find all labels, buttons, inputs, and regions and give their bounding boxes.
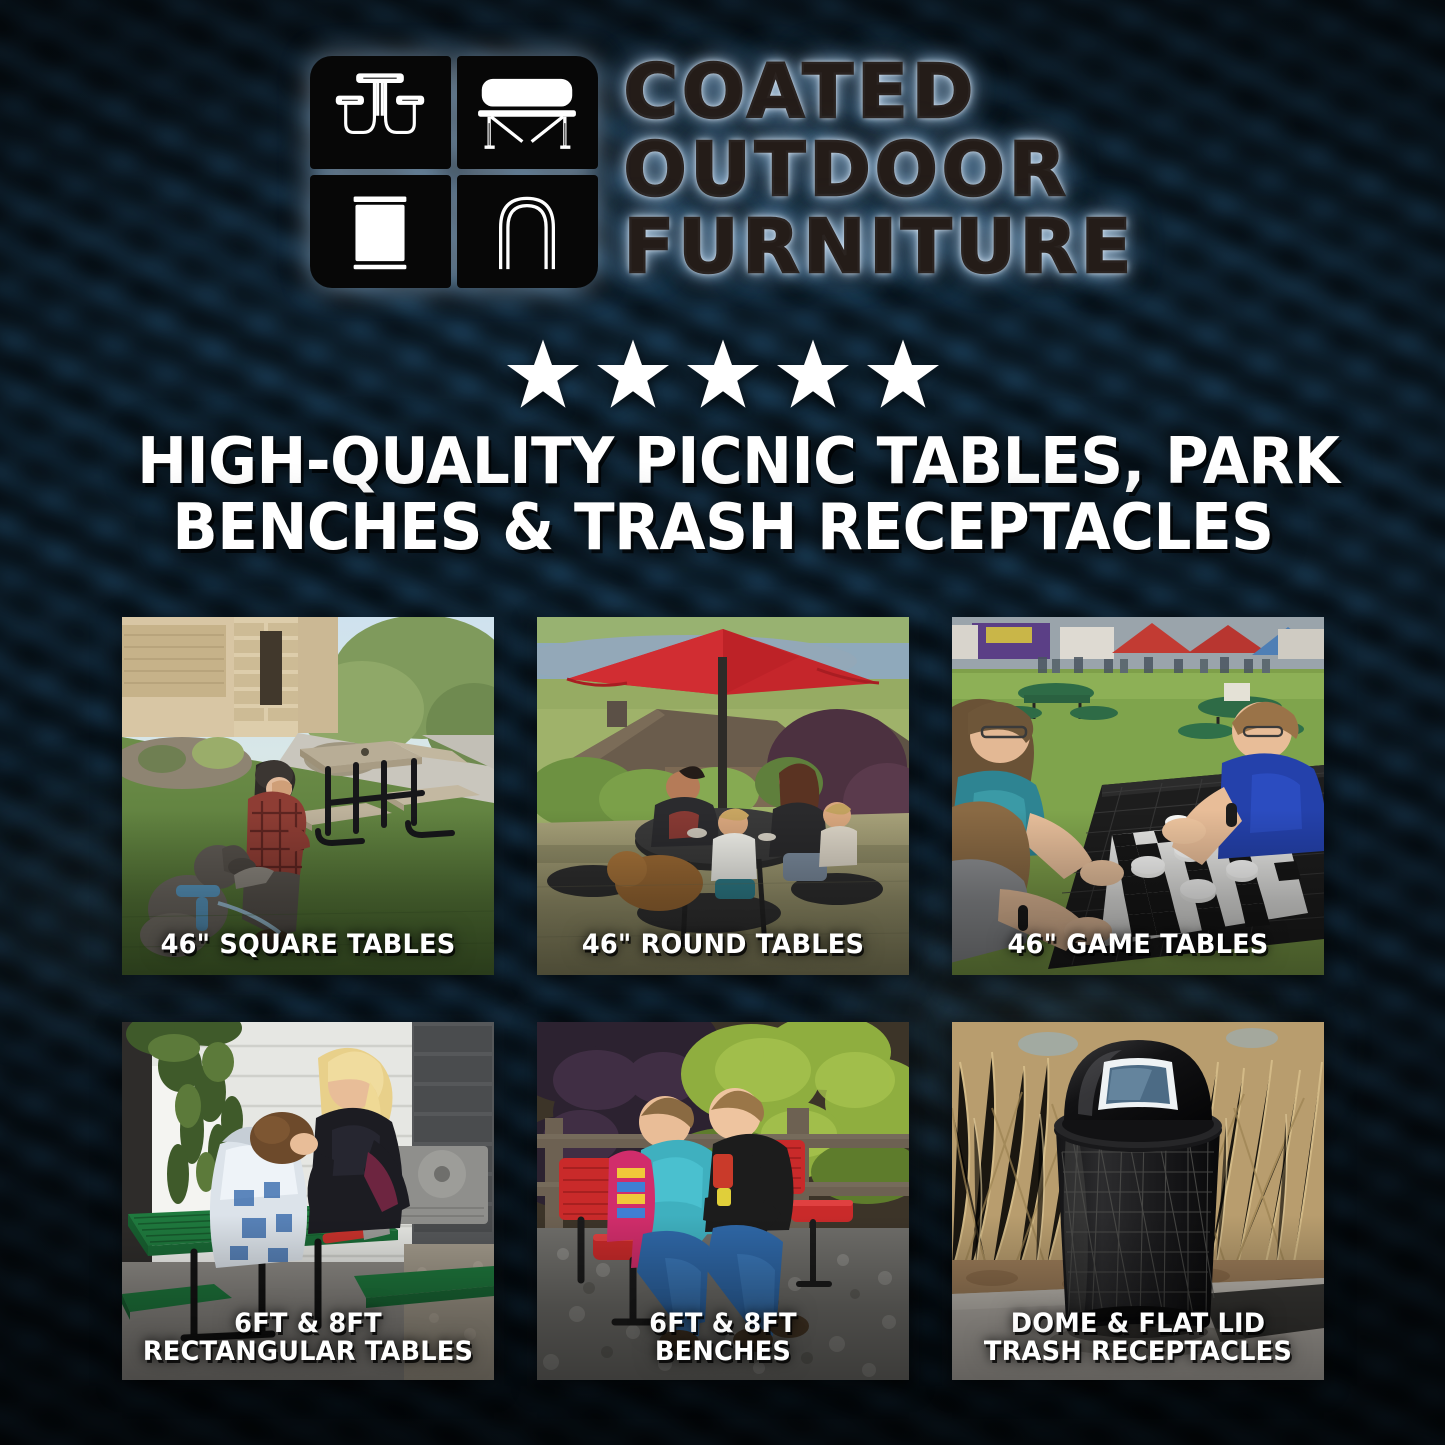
bench-side-icon [457, 56, 598, 169]
caption-line: 46" SQUARE TABLES [137, 931, 479, 959]
caption-line: 6FT & 8FT [552, 1310, 894, 1338]
brand-name-line-1: COATED [624, 58, 1136, 128]
brand-name-line-2: OUTDOOR [624, 136, 1136, 206]
star-icon [865, 338, 941, 410]
product-tile-square-tables[interactable]: 46" SQUARE TABLES [122, 617, 494, 975]
star-icon [685, 338, 761, 410]
brand-name-line-3: FURNITURE [624, 213, 1136, 283]
caption-line: 46" GAME TABLES [967, 931, 1309, 959]
caption-line: DOME & FLAT LID [967, 1310, 1309, 1338]
caption-line: 46" ROUND TABLES [552, 931, 894, 959]
product-caption-square-tables: 46" SQUARE TABLES [128, 931, 488, 959]
product-photo-round-tables [537, 617, 909, 975]
headline-line-2: BENCHES & TRASH RECEPTACLES [137, 496, 1309, 562]
page-title: HIGH-QUALITY PICNIC TABLES, PARK BENCHES… [93, 430, 1353, 562]
product-photo-square-tables [122, 617, 494, 975]
star-icon [775, 338, 851, 410]
product-tile-trash-receptacles[interactable]: DOME & FLAT LID TRASH RECEPTACLES [952, 1022, 1324, 1380]
product-tile-round-tables[interactable]: 46" ROUND TABLES [537, 617, 909, 975]
product-caption-benches: 6FT & 8FT BENCHES [543, 1310, 903, 1366]
product-tile-game-tables[interactable]: 46" GAME TABLES [952, 617, 1324, 975]
brand-wordmark: COATED OUTDOOR FURNITURE [624, 56, 1136, 283]
star-icon [505, 338, 581, 410]
product-caption-game-tables: 46" GAME TABLES [958, 931, 1318, 959]
product-tile-benches[interactable]: 6FT & 8FT BENCHES [537, 1022, 909, 1380]
star-rating [0, 338, 1445, 410]
caption-line: BENCHES [552, 1338, 894, 1366]
headline-line-1: HIGH-QUALITY PICNIC TABLES, PARK [137, 430, 1309, 496]
brand-logo-mark [310, 56, 598, 288]
caption-line: RECTANGULAR TABLES [137, 1338, 479, 1366]
product-tile-rectangular-tables[interactable]: 6FT & 8FT RECTANGULAR TABLES [122, 1022, 494, 1380]
bike-rack-arch-icon [457, 175, 598, 288]
product-caption-round-tables: 46" ROUND TABLES [543, 931, 903, 959]
poster-canvas: COATED OUTDOOR FURNITURE HIGH-QUALITY PI… [0, 0, 1445, 1445]
caption-line: TRASH RECEPTACLES [967, 1338, 1309, 1366]
product-caption-trash-receptacles: DOME & FLAT LID TRASH RECEPTACLES [958, 1310, 1318, 1366]
brand-header: COATED OUTDOOR FURNITURE [0, 56, 1445, 288]
product-caption-rectangular-tables: 6FT & 8FT RECTANGULAR TABLES [128, 1310, 488, 1366]
caption-line: 6FT & 8FT [137, 1310, 479, 1338]
product-grid: 46" SQUARE TABLES [122, 617, 1324, 1380]
trash-receptacle-icon [310, 175, 451, 288]
picnic-table-icon [310, 56, 451, 169]
star-icon [595, 338, 671, 410]
product-photo-game-tables [952, 617, 1324, 975]
